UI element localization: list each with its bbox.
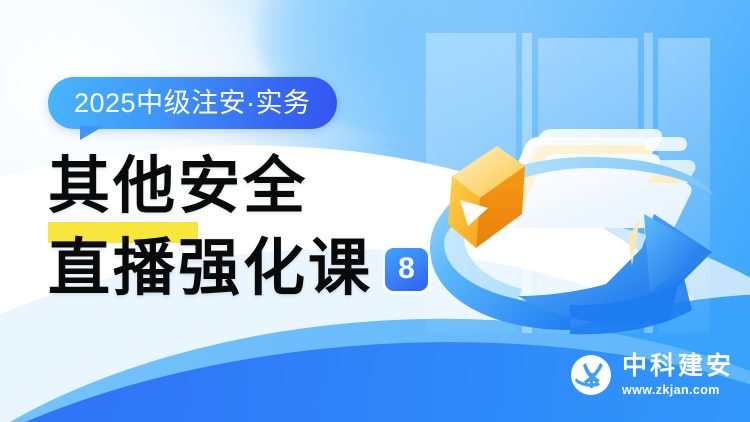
headline-line-2-row: 直播强化课 8 [48,234,448,304]
brand-url: www.zkjan.com [622,384,734,397]
brand-name: 中科建安 [622,354,734,379]
headline-line-2: 直播强化课 [48,234,373,304]
brand-logo-text: 中科建安 www.zkjan.com [622,354,734,397]
course-tag: 2025中级注安·实务 [48,77,337,129]
episode-badge-number: 8 [398,254,415,284]
brand-logo: 中科建安 www.zkjan.com [570,354,734,397]
headline-block: 其他安全 直播强化课 8 [48,152,448,304]
headline-line-1: 其他安全 [48,152,308,222]
course-tag-pill: 2025中级注安·实务 [48,77,337,129]
speech-bubble-tail-icon [80,126,104,140]
zkjan-circle-logo-icon [570,354,612,396]
episode-badge: 8 [385,248,428,291]
course-banner: 2025中级注安·实务 其他安全 直播强化课 8 中科 [0,0,750,422]
course-tag-label: 2025中级注安·实务 [74,90,311,117]
headline-line-1-row: 其他安全 [48,152,448,222]
